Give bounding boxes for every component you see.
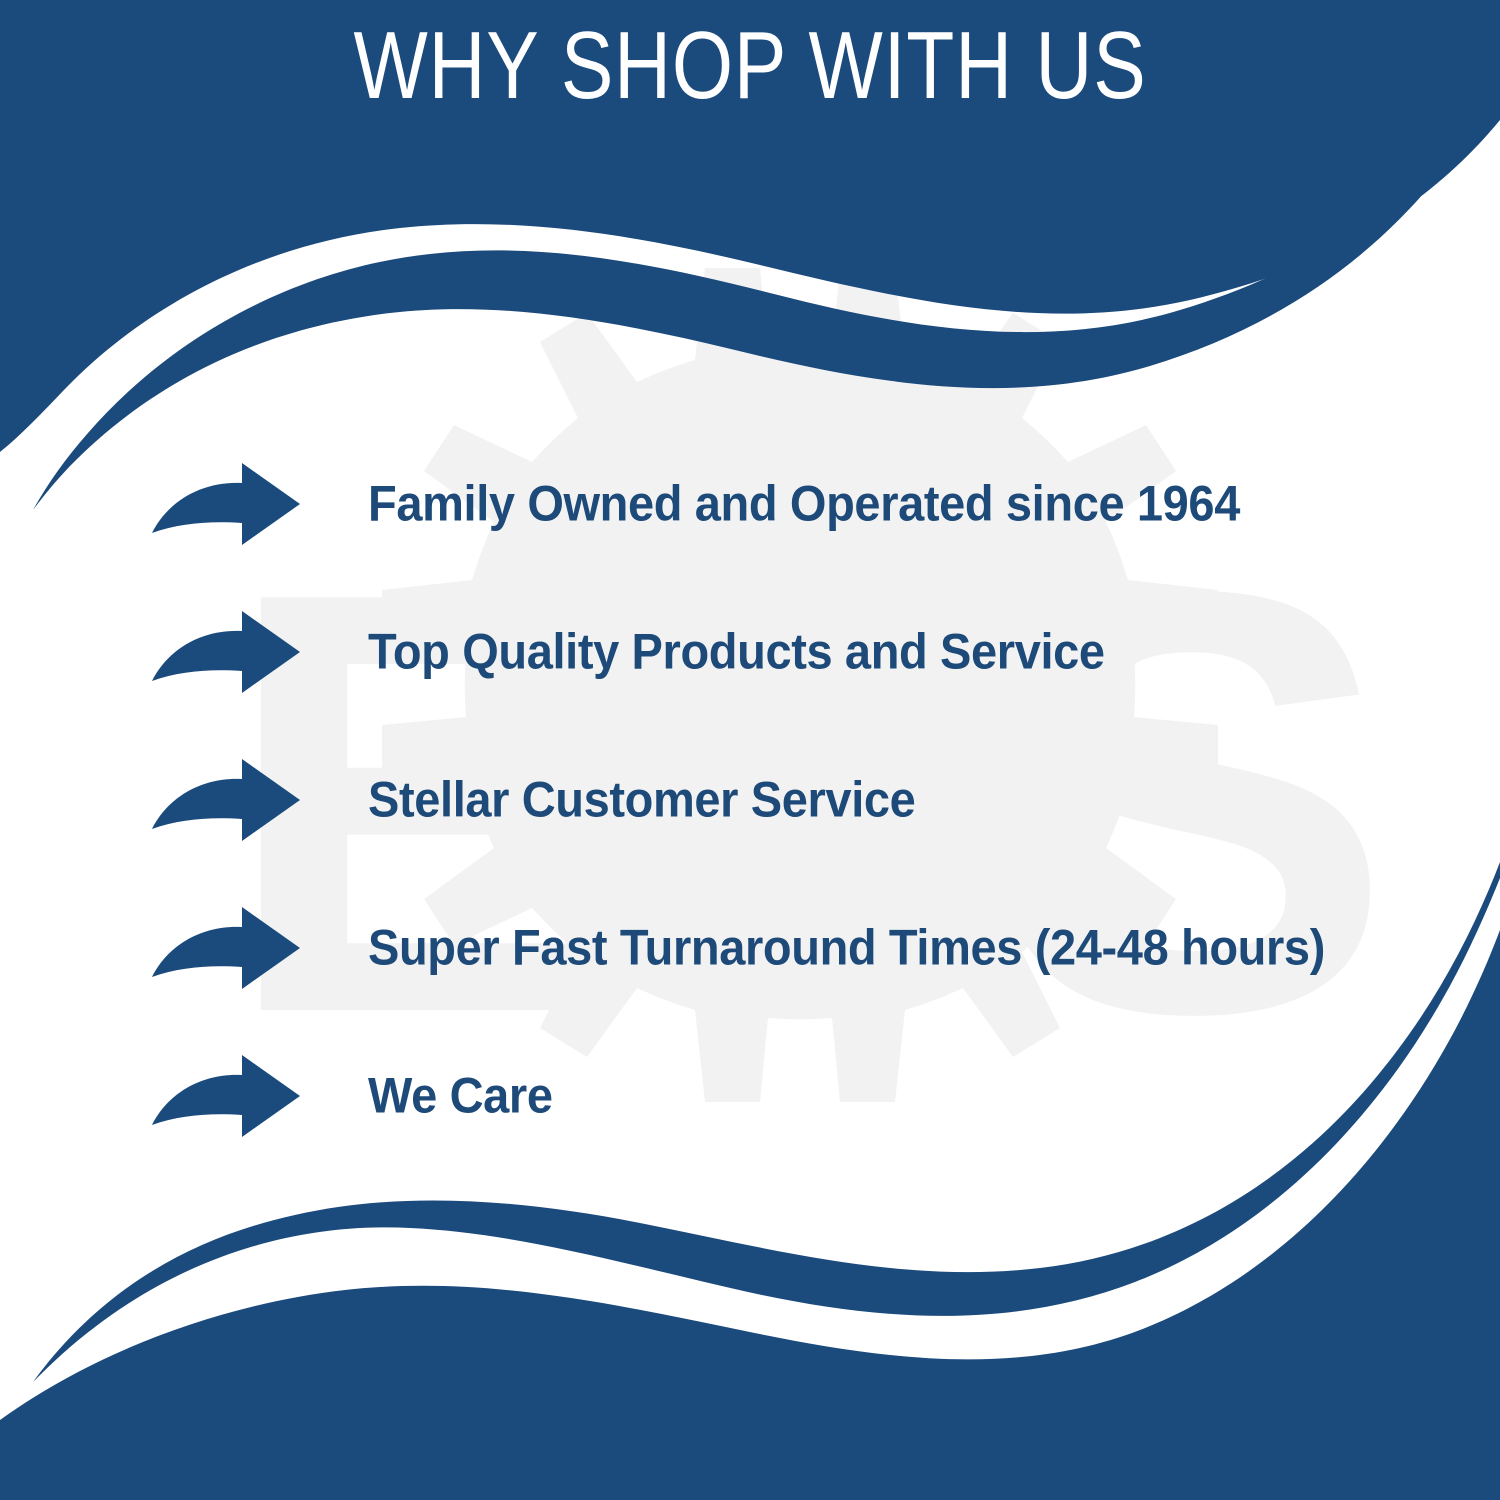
list-item-label: We Care [368, 1069, 553, 1124]
list-item[interactable]: Stellar Customer Service [0, 726, 1500, 874]
curved-arrow-right-icon [150, 757, 302, 843]
curved-arrow-right-icon [150, 905, 302, 991]
list-item[interactable]: We Care [0, 1022, 1500, 1170]
list-item-label: Family Owned and Operated since 1964 [368, 477, 1240, 532]
curved-arrow-right-icon [150, 461, 302, 547]
list-item[interactable]: Family Owned and Operated since 1964 [0, 430, 1500, 578]
list-item-label: Top Quality Products and Service [368, 625, 1105, 680]
list-item-label: Super Fast Turnaround Times (24-48 hours… [368, 921, 1325, 976]
list-item[interactable]: Super Fast Turnaround Times (24-48 hours… [0, 874, 1500, 1022]
list-item-label: Stellar Customer Service [368, 773, 915, 828]
curved-arrow-right-icon [150, 1053, 302, 1139]
list-item[interactable]: Top Quality Products and Service [0, 578, 1500, 726]
curved-arrow-right-icon [150, 609, 302, 695]
page-title: WHY SHOP WITH US [135, 14, 1365, 118]
promo-graphic: ESS WHY SHOP WITH US Family Owned and Op… [0, 0, 1500, 1500]
benefits-list: Family Owned and Operated since 1964 Top… [0, 430, 1500, 1170]
